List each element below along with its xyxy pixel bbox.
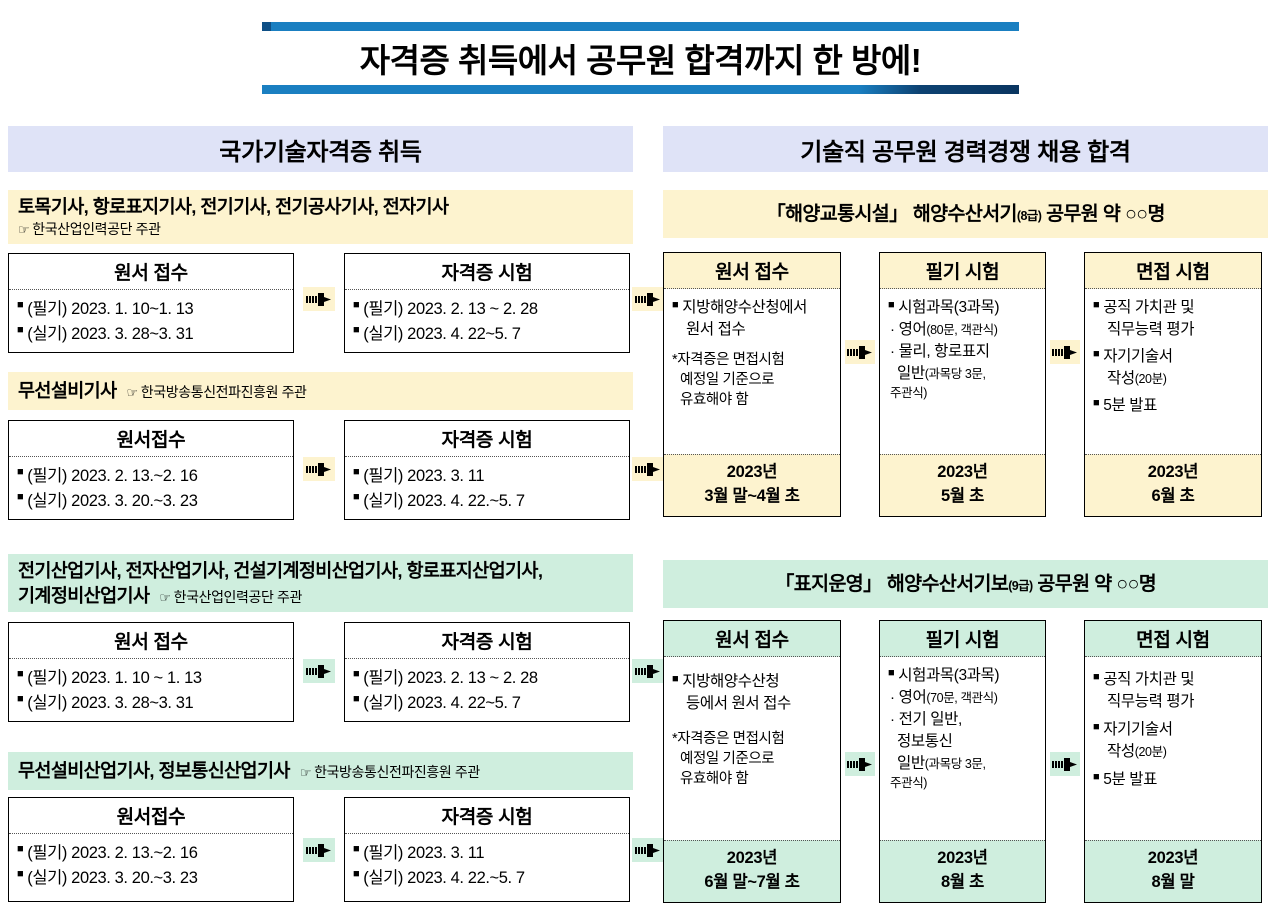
cert-card-apply-3: 원서 접수 ■(필기) 2023. 1. 10 ~ 1. 13 ■(실기) 20… (8, 622, 294, 722)
flow-arrow (845, 752, 875, 776)
flow-arrow-to-right-col (632, 659, 664, 683)
cert-group-name-2: 무선설비기사 (18, 379, 117, 402)
card-footer: 2023년 8월 초 (880, 840, 1045, 902)
cert-group-name-3: 전기산업기사, 전자산업기사, 건설기계정비산업기사, 항로표지산업기사, (18, 559, 623, 582)
card-title: 면접 시험 (1085, 253, 1261, 289)
flow-arrow-to-right-col (632, 457, 664, 481)
job-group-banner-1: 「해양교통시설」 해양수산서기(8급) 공무원 약 ○○명 (663, 190, 1268, 238)
job-group-title-1: 「해양교통시설」 해양수산서기(8급) 공무원 약 ○○명 (766, 202, 1165, 226)
cert-card-exam-3: 자격증 시험 ■(필기) 2023. 2. 13 ~ 2. 28 ■(실기) 2… (344, 622, 630, 722)
cert-card-exam-1: 자격증 시험 ■(필기) 2023. 2. 13 ~ 2. 28 ■(실기) 2… (344, 253, 630, 353)
flow-arrow (303, 287, 335, 311)
card-body: ■(필기) 2023. 2. 13.~2. 16 ■(실기) 2023. 3. … (9, 834, 293, 901)
card-title: 원서 접수 (9, 254, 293, 290)
job-card-interview-1: 면접 시험 ■공직 가치관 및 직무능력 평가 ■자기기술서 작성(20분) ■… (1084, 252, 1262, 517)
card-body: ■지방해양수산청 등에서 원서 접수 *자격증은 면접시험 예정일 기준으로 유… (664, 657, 840, 840)
cert-group-name-3b: 기계정비산업기사 (18, 584, 149, 607)
pointing-hand-icon: ☞ (159, 590, 170, 605)
card-title: 원서접수 (9, 421, 293, 457)
flow-arrow (303, 457, 335, 481)
cert-group-name-1: 토목기사, 항로표지기사, 전기기사, 전기공사기사, 전자기사 (18, 195, 623, 218)
card-title: 자격증 시험 (345, 421, 629, 457)
arrow-right-icon (1052, 345, 1078, 360)
right-column-header: 기술직 공무원 경력경쟁 채용 합격 (663, 126, 1268, 172)
left-column-header: 국가기술자격증 취득 (8, 126, 633, 172)
job-card-apply-2: 원서 접수 ■지방해양수산청 등에서 원서 접수 *자격증은 면접시험 예정일 … (663, 620, 841, 903)
arrow-right-icon (306, 843, 332, 858)
card-body-line: 등에서 원서 접수 (672, 693, 833, 715)
flow-arrow (303, 838, 335, 862)
job-card-interview-2: 면접 시험 ■공직 가치관 및 직무능력 평가 ■자기기술서 작성(20분) ■… (1084, 620, 1262, 903)
card-body-line: 주관식) (888, 775, 1038, 793)
card-body: ■공직 가치관 및 직무능력 평가 ■자기기술서 작성(20분) ■5분 발표 (1085, 289, 1261, 454)
cert-card-apply-4: 원서접수 ■(필기) 2023. 2. 13.~2. 16 ■(실기) 2023… (8, 797, 294, 902)
flow-arrow-to-right-col (632, 838, 664, 862)
arrow-right-icon (847, 345, 873, 360)
arrow-right-icon (635, 292, 661, 307)
card-body: ■시험과목(3과목) ·영어(80문, 객관식) ·물리, 항로표지 일반(과목… (880, 289, 1045, 454)
card-footer: 2023년 3월 말~4월 초 (664, 454, 840, 516)
pointing-hand-icon: ☞ (300, 765, 311, 780)
card-footer: 2023년 6월 초 (1085, 454, 1261, 516)
card-body: ■(필기) 2023. 2. 13 ~ 2. 28 ■(실기) 2023. 4.… (345, 290, 629, 353)
cert-card-exam-4: 자격증 시험 ■(필기) 2023. 3. 11 ■(실기) 2023. 4. … (344, 797, 630, 902)
card-note: *자격증은 면접시험 예정일 기준으로 유효해야 함 (672, 350, 833, 410)
card-footer: 2023년 5월 초 (880, 454, 1045, 516)
card-footer: 2023년 8월 말 (1085, 840, 1261, 902)
job-group-title-2: 「표지운영」 해양수산서기보(9급) 공무원 약 ○○명 (775, 572, 1156, 596)
card-title: 자격증 시험 (345, 623, 629, 659)
arrow-right-icon (635, 462, 661, 477)
title-banner: 자격증 취득에서 공무원 합격까지 한 방에! (262, 22, 1019, 94)
card-body: ■시험과목(3과목) ·영어(70문, 객관식) ·전기 일반, 정보통신 일반… (880, 657, 1045, 840)
cert-group-org-3: ☞한국산업인력공단 주관 (159, 587, 302, 607)
cert-group-banner-4: 무선설비산업기사, 정보통신산업기사 ☞한국방송통신전파진흥원 주관 (8, 752, 633, 790)
card-title: 원서 접수 (9, 623, 293, 659)
card-body: ■(필기) 2023. 3. 11 ■(실기) 2023. 4. 22.~5. … (345, 457, 629, 520)
cert-group-banner-2: 무선설비기사 ☞한국방송통신전파진흥원 주관 (8, 372, 633, 410)
card-title: 자격증 시험 (345, 254, 629, 290)
title-stripe-top (262, 22, 1019, 31)
title-stripe-bottom (262, 85, 1019, 94)
arrow-right-icon (306, 664, 332, 679)
card-body: ■공직 가치관 및 직무능력 평가 ■자기기술서 작성(20분) ■5분 발표 (1085, 657, 1261, 840)
card-title: 원서 접수 (664, 253, 840, 289)
card-note: *자격증은 면접시험 예정일 기준으로 유효해야 함 (672, 729, 833, 789)
card-body: ■지방해양수산청에서 원서 접수 *자격증은 면접시험 예정일 기준으로 유효해… (664, 289, 840, 454)
arrow-right-icon (847, 757, 873, 772)
job-group-banner-2: 「표지운영」 해양수산서기보(9급) 공무원 약 ○○명 (663, 560, 1268, 608)
flow-arrow (845, 340, 875, 364)
title-stripe-cap (262, 22, 271, 31)
card-body: ■(필기) 2023. 1. 10~1. 13 ■(실기) 2023. 3. 2… (9, 290, 293, 353)
arrow-right-icon (306, 462, 332, 477)
cert-group-banner-1: 토목기사, 항로표지기사, 전기기사, 전기공사기사, 전자기사 ☞한국산업인력… (8, 190, 633, 244)
cert-group-org-1: ☞한국산업인력공단 주관 (18, 219, 623, 239)
card-body-line: 정보통신 (888, 731, 1038, 753)
job-card-written-1: 필기 시험 ■시험과목(3과목) ·영어(80문, 객관식) ·물리, 항로표지… (879, 252, 1046, 517)
cert-group-org-4: ☞한국방송통신전파진흥원 주관 (300, 762, 480, 782)
card-body-line: 원서 접수 (672, 319, 833, 341)
card-title: 원서접수 (9, 798, 293, 834)
arrow-right-icon (1052, 757, 1078, 772)
cert-group-name-4: 무선설비산업기사, 정보통신산업기사 (18, 759, 290, 782)
flow-arrow-to-right-col (632, 287, 664, 311)
cert-card-exam-2: 자격증 시험 ■(필기) 2023. 3. 11 ■(실기) 2023. 4. … (344, 420, 630, 520)
card-body: ■(필기) 2023. 2. 13.~2. 16 ■(실기) 2023. 3. … (9, 457, 293, 520)
cert-card-apply-1: 원서 접수 ■(필기) 2023. 1. 10~1. 13 ■(실기) 2023… (8, 253, 294, 353)
card-body-line: 주관식) (888, 385, 1038, 403)
arrow-right-icon (635, 664, 661, 679)
flow-arrow (1050, 340, 1080, 364)
title-stripe-wedge (859, 85, 1019, 94)
job-card-apply-1: 원서 접수 ■지방해양수산청에서 원서 접수 *자격증은 면접시험 예정일 기준… (663, 252, 841, 517)
cert-group-banner-3: 전기산업기사, 전자산업기사, 건설기계정비산업기사, 항로표지산업기사, 기계… (8, 554, 633, 612)
page-title: 자격증 취득에서 공무원 합격까지 한 방에! (262, 32, 1019, 84)
arrow-right-icon (306, 292, 332, 307)
flow-arrow (1050, 752, 1080, 776)
card-body: ■(필기) 2023. 2. 13 ~ 2. 28 ■(실기) 2023. 4.… (345, 659, 629, 722)
card-title: 자격증 시험 (345, 798, 629, 834)
card-title: 필기 시험 (880, 253, 1045, 289)
card-title: 면접 시험 (1085, 621, 1261, 657)
card-title: 필기 시험 (880, 621, 1045, 657)
job-card-written-2: 필기 시험 ■시험과목(3과목) ·영어(70문, 객관식) ·전기 일반, 정… (879, 620, 1046, 903)
cert-group-org-2: ☞한국방송통신전파진흥원 주관 (127, 382, 307, 402)
card-title: 원서 접수 (664, 621, 840, 657)
arrow-right-icon (635, 843, 661, 858)
flow-arrow (303, 659, 335, 683)
card-body: ■(필기) 2023. 3. 11 ■(실기) 2023. 4. 22.~5. … (345, 834, 629, 901)
pointing-hand-icon: ☞ (18, 222, 29, 237)
cert-card-apply-2: 원서접수 ■(필기) 2023. 2. 13.~2. 16 ■(실기) 2023… (8, 420, 294, 520)
pointing-hand-icon: ☞ (127, 385, 138, 400)
card-body: ■(필기) 2023. 1. 10 ~ 1. 13 ■(실기) 2023. 3.… (9, 659, 293, 722)
card-footer: 2023년 6월 말~7월 초 (664, 840, 840, 902)
